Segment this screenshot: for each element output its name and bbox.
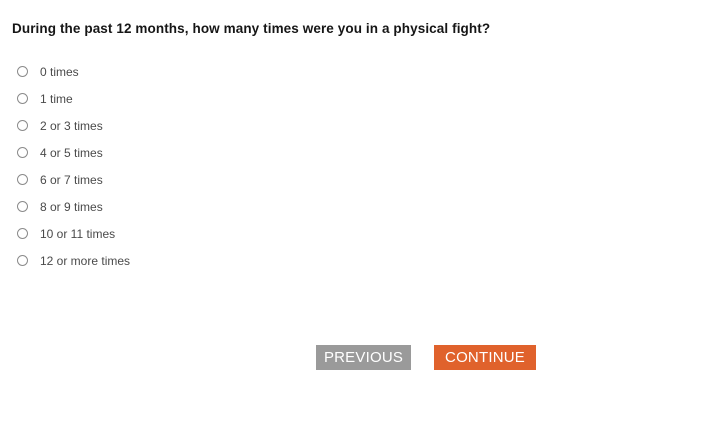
radio-button-icon[interactable] [17,66,28,77]
radio-option-label: 2 or 3 times [40,119,103,133]
radio-button-icon[interactable] [17,228,28,239]
radio-group: 0 times1 time2 or 3 times4 or 5 times6 o… [12,58,432,274]
radio-option[interactable]: 2 or 3 times [12,112,432,139]
radio-button-icon[interactable] [17,201,28,212]
radio-button-icon[interactable] [17,255,28,266]
radio-button-icon[interactable] [17,120,28,131]
radio-option[interactable]: 4 or 5 times [12,139,432,166]
radio-option-label: 8 or 9 times [40,200,103,214]
survey-page: During the past 12 months, how many time… [0,0,704,447]
page-title: During the past 12 months, how many time… [12,21,490,37]
radio-option[interactable]: 1 time [12,85,432,112]
radio-option[interactable]: 6 or 7 times [12,166,432,193]
radio-option-label: 10 or 11 times [40,227,115,241]
radio-option-label: 6 or 7 times [40,173,103,187]
radio-option-label: 4 or 5 times [40,146,103,160]
radio-option[interactable]: 8 or 9 times [12,193,432,220]
radio-button-icon[interactable] [17,174,28,185]
continue-button[interactable]: CONTINUE [434,345,536,370]
radio-option-label: 0 times [40,65,79,79]
radio-button-icon[interactable] [17,147,28,158]
radio-option[interactable]: 10 or 11 times [12,220,432,247]
radio-option-label: 1 time [40,92,73,106]
radio-option[interactable]: 0 times [12,58,432,85]
radio-option-label: 12 or more times [40,254,130,268]
previous-button[interactable]: PREVIOUS [316,345,411,370]
radio-button-icon[interactable] [17,93,28,104]
radio-option[interactable]: 12 or more times [12,247,432,274]
